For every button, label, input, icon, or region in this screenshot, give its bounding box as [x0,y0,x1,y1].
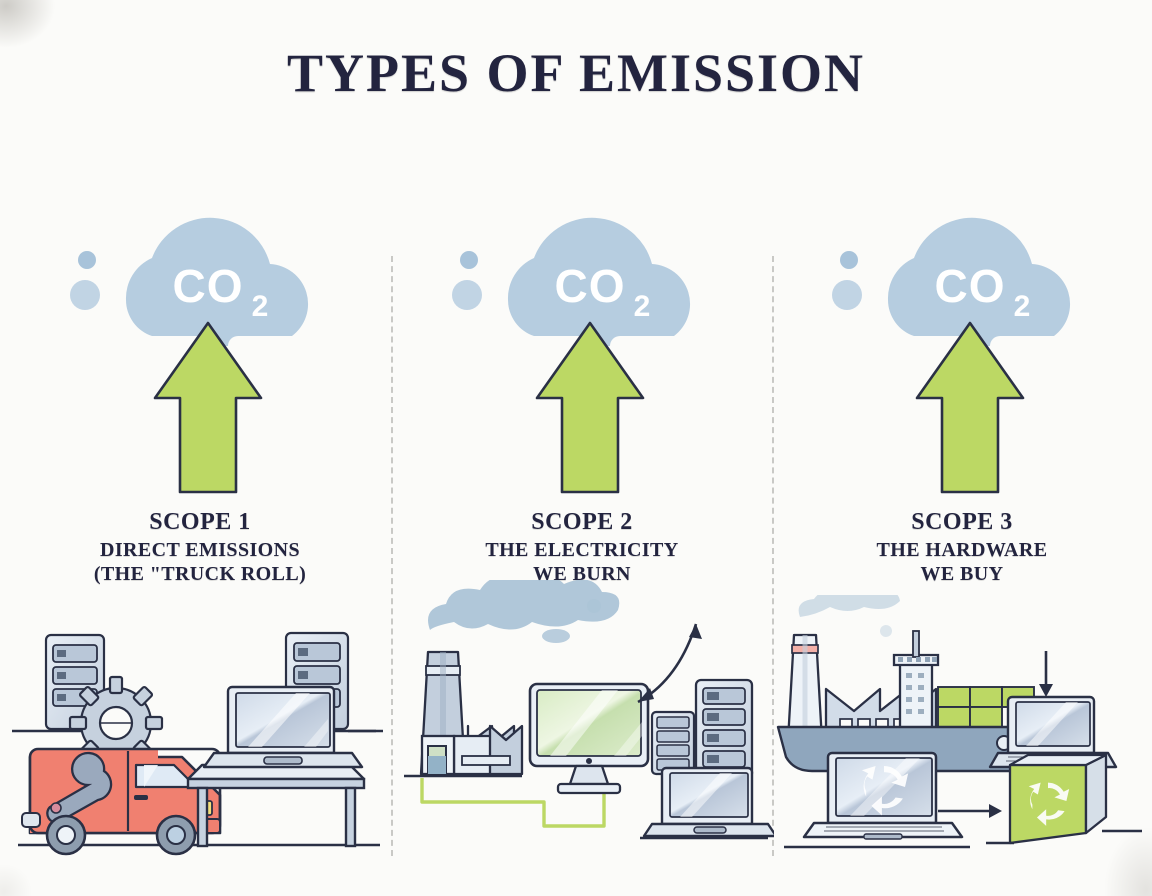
scope-2-title: SCOPE 2 [390,510,774,535]
scope-2-illustration [390,580,774,880]
right-arrow-icon [938,804,1002,818]
scope-3-illustration [770,595,1152,880]
co2-cloud-icon: CO 2 [70,218,308,346]
down-arrow-icon [1039,651,1053,697]
scope-3-subtitle: THE HARDWARE WE BUY [770,539,1152,586]
scope-3-subtitle-line-1: THE HARDWARE [770,539,1152,563]
up-arrow-icon [917,323,1023,492]
scope-1-column: CO 2 SCOPE 1 DIRECT EMISSIONS (THE "TRUC… [8,180,392,880]
svg-text:CO: CO [935,260,1006,312]
svg-text:2: 2 [634,290,651,323]
scope-1-subtitle-line-1: DIRECT EMISSIONS [8,539,392,563]
server-rack-icon [652,712,694,774]
server-rack-icon [696,680,752,778]
recycle-bin-icon [986,755,1142,843]
scope-3-emission-graphic: CO 2 [770,180,1152,510]
scope-3-labels: SCOPE 3 THE HARDWARE WE BUY [770,510,1152,586]
smoke-cloud-icon [799,595,900,637]
scope-3-title: SCOPE 3 [770,510,1152,535]
scope-2-subtitle-line-1: THE ELECTRICITY [390,539,774,563]
van-icon [22,749,220,854]
co2-cloud-icon: CO 2 [452,218,690,346]
scope-1-subtitle-line-2: (THE "TRUCK ROLL) [8,563,392,587]
scope-1-illustration [8,605,392,875]
svg-text:CO: CO [555,260,626,312]
scope-1-subtitle: DIRECT EMISSIONS (THE "TRUCK ROLL) [8,539,392,586]
scope-2-labels: SCOPE 2 THE ELECTRICITY WE BURN [390,510,774,586]
scope-1-labels: SCOPE 1 DIRECT EMISSIONS (THE "TRUCK ROL… [8,510,392,586]
scope-1-title: SCOPE 1 [8,510,392,535]
laptop-icon [640,768,774,838]
scope-2-column: CO 2 SCOPE 2 THE ELECTRICITY WE BURN [390,180,774,880]
svg-text:CO: CO [173,260,244,312]
smoke-cloud-icon [428,580,619,643]
up-arrow-icon [537,323,643,492]
monitor-icon [530,684,648,793]
smokestack-icon [788,635,822,741]
scope-3-subtitle-line-2: WE BUY [770,563,1152,587]
scope-2-emission-graphic: CO 2 [390,180,774,510]
up-arrow-icon [155,323,261,492]
svg-text:2: 2 [252,290,269,323]
co2-cloud-icon: CO 2 [832,218,1070,346]
page-title: TYPES OF EMISSION [0,42,1152,104]
svg-text:2: 2 [1014,290,1031,323]
scope-3-column: CO 2 SCOPE 3 THE HARDWARE WE BUY [770,180,1152,880]
scope-1-emission-graphic: CO 2 [8,180,392,510]
